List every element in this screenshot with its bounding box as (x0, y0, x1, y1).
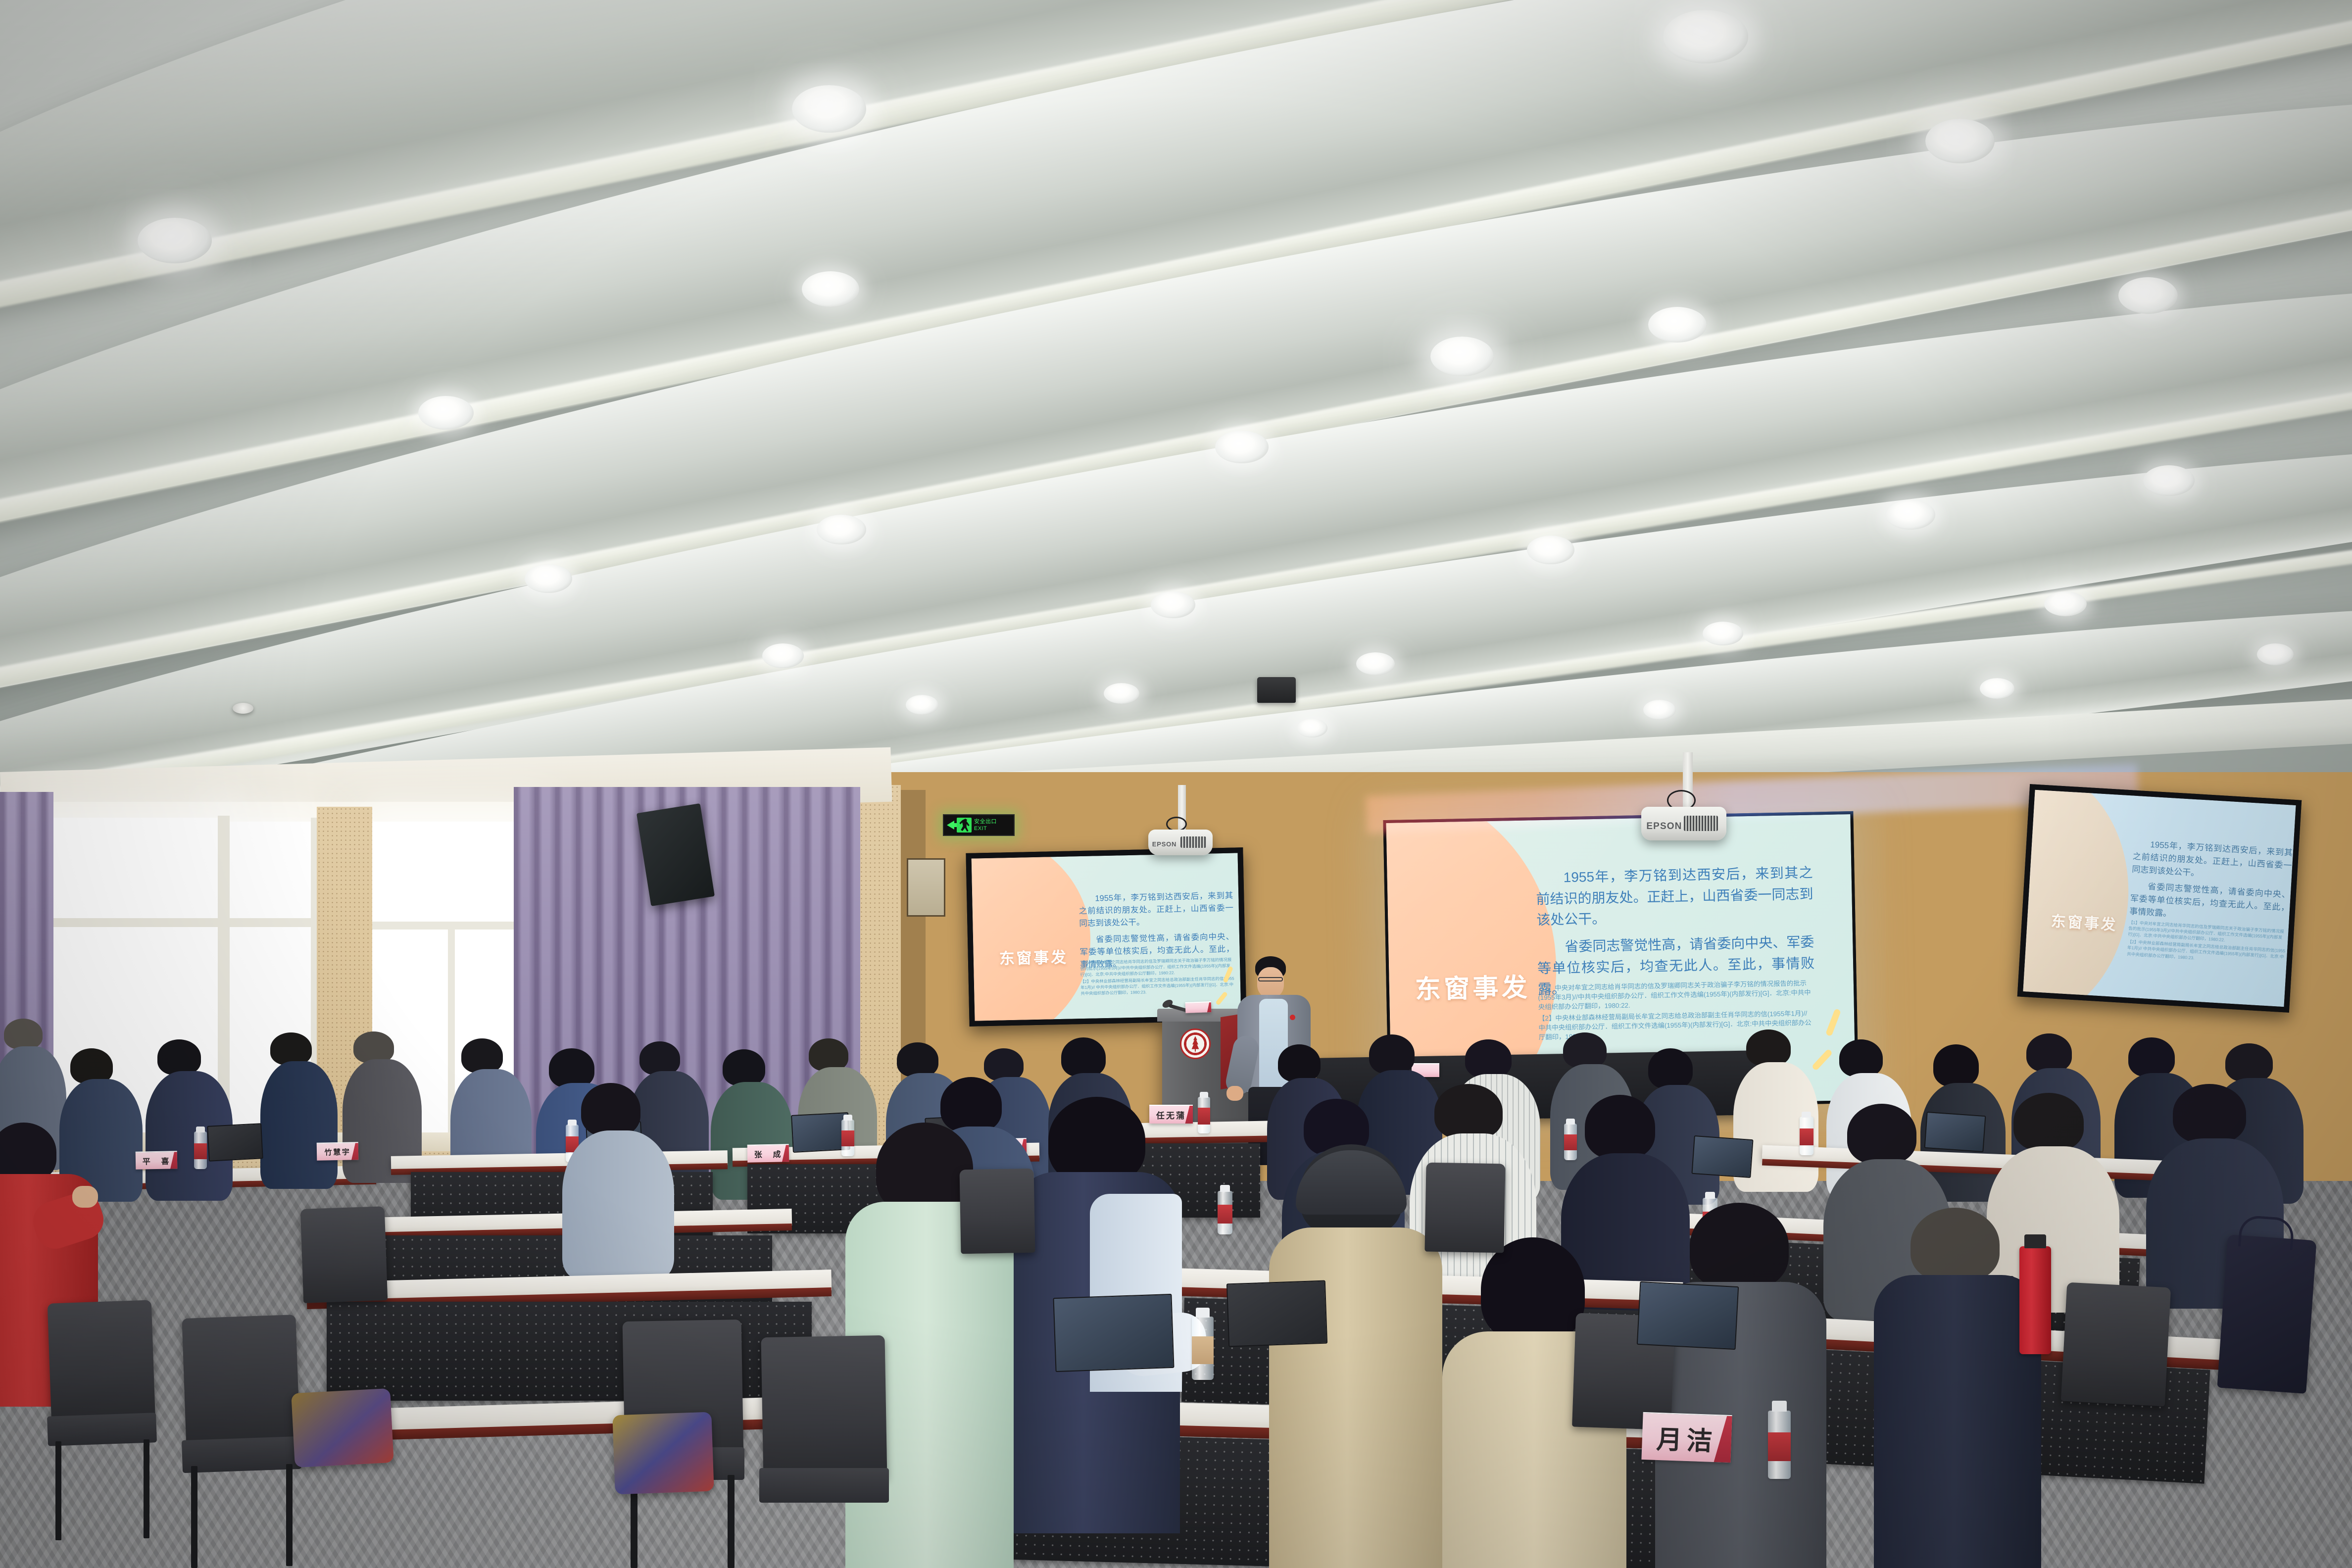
bottle-label (1192, 1336, 1214, 1364)
bottle-cap (1220, 1185, 1230, 1192)
audience-hair (1434, 1084, 1503, 1139)
audience-hair (1847, 1104, 1916, 1164)
chair-leg (144, 1439, 149, 1538)
ceiling-downlight (1925, 119, 1995, 163)
bottle-label (1768, 1432, 1791, 1461)
ceiling-downlight (1886, 500, 1935, 530)
bottle-label (1800, 1128, 1813, 1145)
slide-reference: 【2】中央林业部森林经营局副局长牟宜之同志给总政治部副主任肖华同志的信(1955… (1080, 976, 1235, 997)
slide-reference: 【1】中央对牟宜之同志给肖华同志的信及罗瑞卿同志关于政治骗子李万铭的情况报告的批… (1538, 978, 1815, 1012)
water-bottle (1218, 1191, 1232, 1234)
projector-brand-label: EPSON (1152, 840, 1176, 848)
bottle-cap (1200, 1092, 1208, 1098)
bottle-cap (1772, 1401, 1787, 1412)
ceiling-downlight (2044, 591, 2087, 616)
ceiling-downlight (1356, 652, 1395, 675)
chair-seat (182, 1436, 301, 1473)
laptop[interactable] (1637, 1281, 1739, 1350)
name-card-text: 平 喜 (142, 1155, 170, 1167)
chair[interactable] (960, 1169, 1035, 1254)
water-bottle (1800, 1117, 1813, 1155)
water-bottle (1198, 1097, 1210, 1133)
red-thermos (2019, 1246, 2051, 1354)
ceiling-downlight (1980, 678, 2014, 699)
ceiling-downlight (1215, 431, 1269, 463)
bottle-cap (196, 1127, 205, 1132)
audience-hair (2013, 1093, 2084, 1151)
ceiling-downlight (817, 515, 866, 544)
audience-hair (1563, 1032, 1607, 1068)
chair-seat (759, 1468, 889, 1503)
exit-label-cn: 安全出口 (974, 819, 997, 825)
ceiling-downlight (762, 643, 804, 668)
audience-hair (4, 1019, 43, 1049)
ceiling-downlight (792, 85, 866, 133)
slide-references-left: 【1】中央对牟宜之同志给肖华同志的信及罗瑞卿同志关于政治骗子李万铭的情况报告的批… (1080, 957, 1235, 998)
bottle-cap (1705, 1192, 1715, 1199)
slide-squiggle (1825, 1008, 1841, 1036)
ceiling-camera-icon (1257, 677, 1296, 703)
audience-hair (1048, 1097, 1145, 1184)
audience-hair (2026, 1033, 2072, 1072)
audience-hair (639, 1041, 680, 1075)
ceiling-downlight (1703, 622, 1743, 645)
right-monitor-slide: 东窗事发 1955年，李万铭到达西安后，来到其之前结识的朋友处。正赶上，山西省委… (2023, 790, 2296, 1007)
chair-leg (286, 1464, 293, 1566)
audience-hair (2173, 1084, 2246, 1143)
audience-member (1876, 1208, 2039, 1568)
name-card[interactable]: 平 喜 (136, 1151, 178, 1169)
ceiling-downlight (1151, 591, 1195, 618)
presenter-lapel-pin (1290, 1015, 1295, 1020)
tote-bag (291, 1388, 394, 1468)
audience-hair (1933, 1044, 1979, 1087)
slide-blob-shape (2023, 790, 2135, 1007)
audience-torso (1269, 1227, 1442, 1568)
exit-arrow-icon (947, 821, 954, 830)
backpack (2217, 1234, 2316, 1394)
audience-member (148, 1039, 228, 1198)
chair[interactable] (761, 1335, 887, 1481)
ceiling-downlight (1643, 700, 1676, 720)
chair-leg (191, 1466, 197, 1568)
water-bottle (194, 1131, 207, 1169)
bottle-label (194, 1143, 207, 1159)
window-transom (25, 918, 322, 927)
name-card-text: 竹慧宇 (324, 1146, 350, 1157)
laptop-screen (1637, 1281, 1739, 1350)
audience-member (559, 1083, 673, 1271)
laptop[interactable] (1053, 1294, 1174, 1372)
laptop[interactable] (1226, 1280, 1327, 1347)
audience-hand (72, 1186, 98, 1208)
ceiling-downlight (2143, 465, 2195, 496)
laptop[interactable] (1691, 1135, 1753, 1178)
audience-hair (461, 1038, 503, 1073)
podium-name-card (1185, 1001, 1212, 1013)
audience-torso (260, 1061, 338, 1189)
projector-brand-label: EPSON (1646, 821, 1682, 832)
chair-seat (47, 1413, 157, 1446)
chair[interactable] (182, 1315, 300, 1452)
water-bottle (1192, 1317, 1214, 1380)
ceiling-downlight (138, 218, 212, 263)
chair[interactable] (300, 1206, 388, 1303)
audience-hair (1911, 1208, 2000, 1282)
exit-sign-text: 安全出口 EXIT (974, 819, 997, 832)
audience-torso (562, 1130, 674, 1279)
slide-paragraph: 1955年，李万铭到达西安后，来到其之前结识的朋友处。正赶上，山西省委一同志到该… (1535, 863, 1813, 931)
exit-label-en: EXIT (974, 826, 997, 832)
bottle-label (1198, 1108, 1210, 1125)
bottle-label (1218, 1205, 1232, 1224)
right-monitor[interactable]: 东窗事发 1955年，李万铭到达西安后，来到其之前结识的朋友处。正赶上，山西省委… (2017, 784, 2302, 1013)
chair-leg (55, 1441, 61, 1540)
ceiling-downlight (1663, 10, 1748, 63)
ceiling-downlight (418, 396, 474, 430)
audience-torso (1874, 1275, 2041, 1568)
bottle-cap (1196, 1308, 1210, 1318)
name-card[interactable]: 张 成 (747, 1144, 789, 1162)
audience-hair (1746, 1029, 1791, 1066)
main-projector: EPSON (1641, 807, 1726, 840)
audience-hair (809, 1038, 848, 1071)
presenter-head (1257, 967, 1284, 998)
audience-hair (897, 1042, 938, 1077)
ceiling-downlight (906, 695, 938, 715)
ceiling-downlight (802, 271, 859, 307)
left-projector: EPSON (1148, 830, 1213, 855)
name-card[interactable]: 月洁 (1641, 1412, 1732, 1463)
audience-hair (1648, 1048, 1693, 1089)
audience-hair (1369, 1034, 1415, 1074)
chair[interactable] (2061, 1282, 2171, 1407)
slide-body-right: 1955年，李万铭到达西安后，来到其之前结识的朋友处。正赶上，山西省委一同志到该… (2129, 837, 2293, 931)
bottle-cap (1802, 1112, 1811, 1118)
ceiling (0, 0, 2352, 812)
ceiling-downlight (525, 564, 572, 593)
slide-blob-shape (972, 853, 1093, 1021)
audience-member (257, 1032, 337, 1186)
running-person-icon (957, 818, 972, 833)
slide-paragraph: 1955年，李万铭到达西安后，来到其之前结识的朋友处。正赶上，山西省委一同志到该… (2132, 837, 2293, 885)
audience-hair (1690, 1203, 1789, 1290)
presenter-hand (1226, 1086, 1243, 1101)
tote-bag (612, 1412, 714, 1495)
chair[interactable] (1424, 1163, 1505, 1253)
smoke-detector-icon (233, 703, 253, 714)
chair[interactable] (48, 1300, 156, 1427)
projector-vent (1180, 836, 1206, 848)
ceiling-downlight (1430, 337, 1494, 376)
exit-sign: 安全出口 EXIT (943, 814, 1015, 836)
audience-hair (0, 1123, 56, 1182)
slide-paragraph: 省委同志警觉性高，请省委向中央、军委等单位核实后，均查无此人。至此，事情败露。 (2129, 880, 2291, 927)
wall-control-panel (907, 858, 945, 917)
slide-reference: 【1】中央对牟宜之同志给肖华同志的信及罗瑞卿同志关于政治骗子李万铭的情况报告的批… (1080, 957, 1235, 978)
university-seal-icon (1180, 1029, 1211, 1059)
audience-hair (1278, 1044, 1321, 1082)
audience-hair (723, 1049, 765, 1086)
ceiling-downlight (2118, 277, 2178, 314)
left-monitor[interactable]: 东窗事发 1955年，李万铭到达西安后，来到其之前结识的朋友处。正赶上，山西省委… (966, 847, 1246, 1027)
lecture-hall-scene: 安全出口 EXIT 东窗事发 1955年，李万铭到达西安后，来到其之前结识的朋友… (0, 0, 2352, 1568)
audience-hair (1839, 1039, 1883, 1077)
slide-blob-title: 东窗事发 (1415, 967, 1530, 1006)
bottle-cap (843, 1115, 852, 1121)
audience-hair (1061, 1037, 1106, 1077)
slide-blob-title: 东窗事发 (2051, 909, 2118, 934)
audience-hair (270, 1032, 312, 1065)
ceiling-downlight (1104, 683, 1139, 704)
audience-hair (2128, 1037, 2175, 1077)
audience-hair (876, 1123, 973, 1215)
laptop-screen (1691, 1135, 1753, 1178)
name-card-text: 张 成 (754, 1148, 782, 1160)
laptop-screen (1226, 1280, 1327, 1347)
audience-hair (157, 1039, 201, 1075)
audience-hair (2225, 1043, 2273, 1082)
name-card[interactable]: 竹慧宇 (317, 1142, 359, 1160)
left-monitor-slide: 东窗事发 1955年，李万铭到达西安后，来到其之前结识的朋友处。正赶上，山西省委… (972, 853, 1241, 1021)
audience-member (1277, 1144, 1440, 1568)
water-bottle (1768, 1411, 1791, 1479)
audience-hair (1481, 1237, 1585, 1342)
audience-member (1658, 1203, 1826, 1568)
ceiling-downlight (1648, 307, 1707, 343)
ceiling-downlight (2257, 643, 2294, 665)
audience-hair (549, 1048, 594, 1088)
laptop-screen (1053, 1294, 1174, 1372)
presenter-glasses-icon (1258, 977, 1283, 981)
audience-hair (1465, 1039, 1512, 1078)
laptop[interactable] (207, 1123, 263, 1162)
laptop-screen (207, 1123, 263, 1162)
slide-blob-title: 东窗事发 (999, 945, 1068, 969)
ceiling-downlight (1527, 536, 1574, 564)
chair-leg (728, 1475, 735, 1568)
name-card-text: 月洁 (1656, 1418, 1717, 1457)
projector-vent (1684, 816, 1718, 831)
audience-hair (984, 1048, 1024, 1081)
slide-paragraph: 1955年，李万铭到达西安后，来到其之前结识的朋友处。正赶上，山西省委一同志到该… (1078, 890, 1234, 931)
ceiling-downlight (1297, 719, 1327, 737)
audience-hair (353, 1031, 394, 1063)
audience-hair (581, 1083, 640, 1136)
thermos-cap (2024, 1234, 2046, 1248)
audience-hair (1585, 1095, 1655, 1159)
